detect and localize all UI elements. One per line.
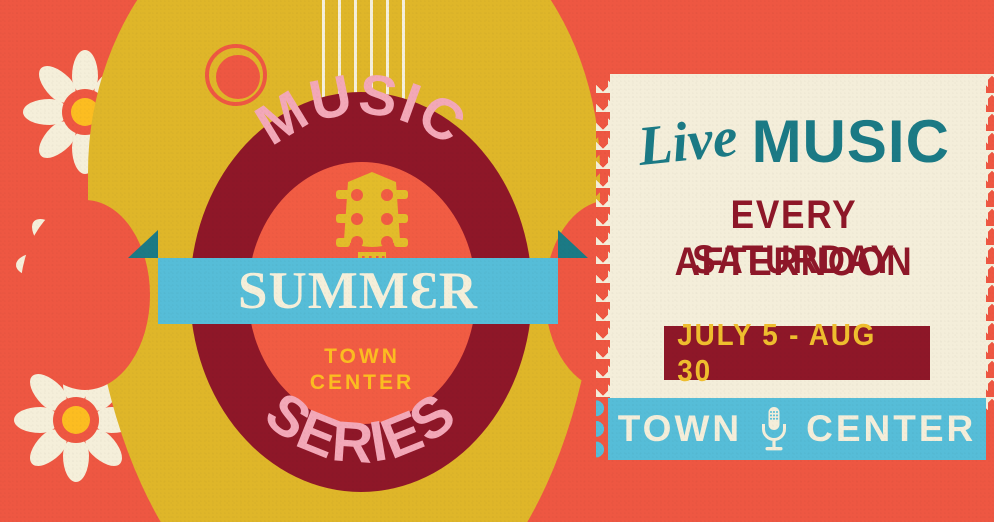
venue-word-town: TOWN — [618, 408, 742, 450]
retro-music-poster: MUSIC SERIES SUMMƐR TOWN CENTER Live MUS… — [0, 0, 994, 522]
summer-banner-fold-right — [558, 230, 588, 258]
guitar-waist-left — [20, 200, 150, 390]
flower-center — [62, 406, 90, 434]
flower-petal — [14, 407, 58, 433]
headline-bold-music: MUSIC — [752, 112, 950, 172]
guitar-soundhole-icon — [216, 55, 260, 99]
headline-script-live: Live — [635, 109, 740, 175]
card-zigzag-edge-right — [986, 74, 994, 410]
summer-banner-label: SUMMƐR — [158, 258, 558, 324]
summer-banner-fold-left — [128, 230, 158, 258]
microphone-icon — [759, 406, 789, 452]
badge-subtitle-line1: TOWN — [248, 344, 476, 370]
venue-banner: TOWN CENTER — [608, 398, 986, 460]
badge-subtitle: TOWN CENTER — [248, 344, 476, 395]
flower-petal — [23, 99, 67, 125]
date-range-band: JULY 5 - AUG 30 — [664, 326, 930, 380]
venue-word-center: CENTER — [806, 408, 976, 450]
flower-petal — [63, 438, 89, 482]
card-line-afternoon: AFTERNOON — [630, 240, 957, 285]
badge-subtitle-line2: CENTER — [248, 370, 476, 396]
date-range-label: JULY 5 - AUG 30 — [677, 317, 916, 389]
card-headline: Live MUSIC — [608, 104, 980, 180]
